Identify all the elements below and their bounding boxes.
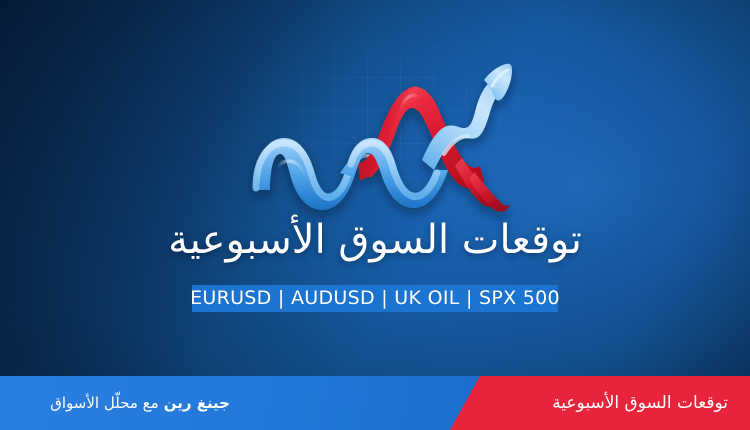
page-title: توقعات السوق الأسبوعية — [0, 214, 750, 266]
slide-canvas: توقعات السوق الأسبوعية EURUSD | AUDUSD |… — [0, 0, 750, 430]
instruments-badge: EURUSD | AUDUSD | UK OIL | SPX 500 — [192, 285, 558, 312]
analyst-credit-label: مع محلّل الأسواق — [50, 394, 158, 412]
footer-bar: جينغ رين مع محلّل الأسواق توقعات السوق ا… — [0, 376, 750, 430]
market-wave-arrow-logo — [248, 42, 518, 202]
analyst-name: جينغ رين — [164, 394, 230, 412]
analyst-credit: جينغ رين مع محلّل الأسواق — [50, 376, 230, 430]
instruments-badge-label: EURUSD | AUDUSD | UK OIL | SPX 500 — [190, 289, 560, 308]
footer-series-title: توقعات السوق الأسبوعية — [552, 376, 728, 430]
